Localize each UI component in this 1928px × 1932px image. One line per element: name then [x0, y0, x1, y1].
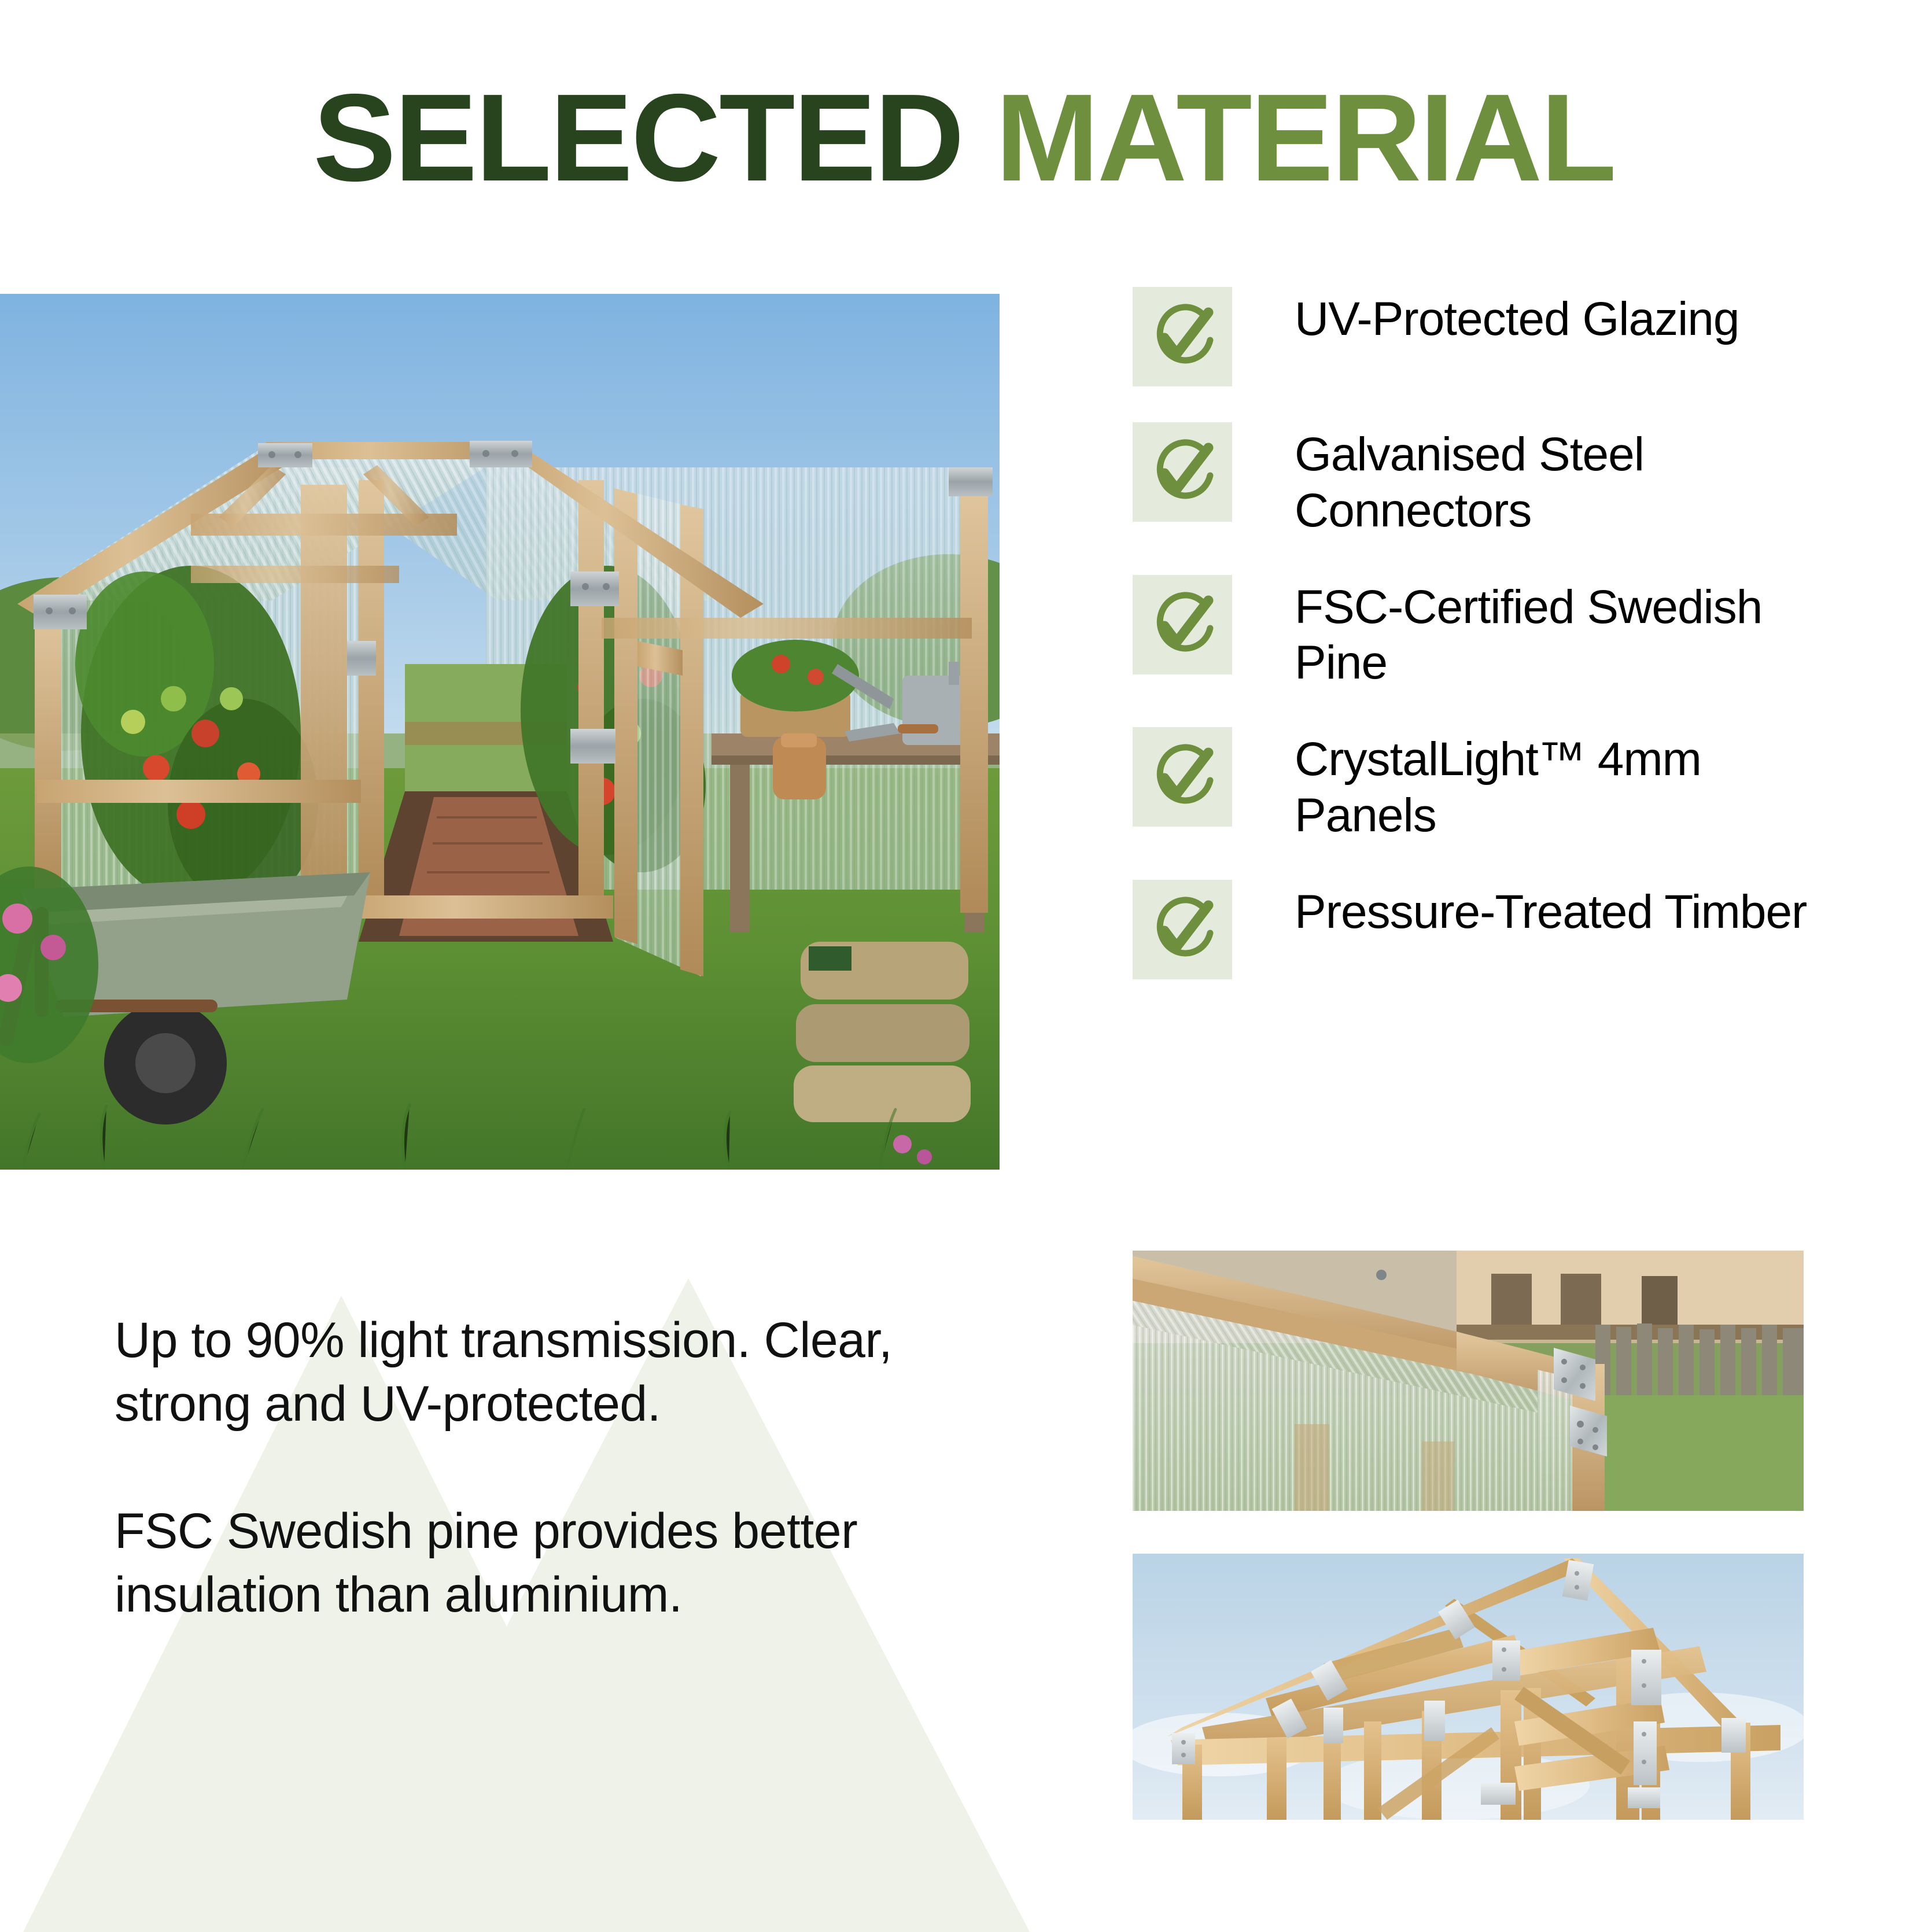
page-title-part-two: MATERIAL — [996, 68, 1615, 207]
roof-edge-detail-photo — [1133, 1251, 1804, 1511]
check-circle-icon — [1133, 287, 1232, 386]
timber-frame-detail-photo — [1133, 1554, 1804, 1820]
feature-label: UV-Protected Glazing — [1295, 287, 1739, 348]
feature-item: UV-Protected Glazing — [1133, 287, 1827, 386]
check-circle-icon — [1133, 727, 1232, 827]
page-title-part-one: SELECTED — [313, 68, 963, 207]
feature-item: Galvanised Steel Connectors — [1133, 422, 1827, 539]
body-copy-block: Up to 90% light transmission. Clear, str… — [115, 1308, 1040, 1627]
feature-item: FSC-Certified Swedish Pine — [1133, 575, 1827, 692]
page-title: SELECTED MATERIAL — [0, 75, 1928, 200]
feature-item: CrystalLight™ 4mm Panels — [1133, 727, 1827, 844]
feature-item: Pressure-Treated Timber — [1133, 880, 1827, 979]
body-paragraph-light-transmission: Up to 90% light transmission. Clear, str… — [115, 1308, 1040, 1436]
material-feature-list: UV-Protected Glazing Galvanised Steel Co… — [1133, 287, 1827, 979]
check-circle-icon — [1133, 422, 1232, 522]
feature-label: Pressure-Treated Timber — [1295, 880, 1807, 941]
greenhouse-hero-photo — [0, 294, 1000, 1170]
feature-label: FSC-Certified Swedish Pine — [1295, 575, 1827, 692]
check-circle-icon — [1133, 575, 1232, 674]
body-paragraph-insulation: FSC Swedish pine provides better insulat… — [115, 1499, 1040, 1627]
feature-label: Galvanised Steel Connectors — [1295, 422, 1827, 539]
feature-label: CrystalLight™ 4mm Panels — [1295, 727, 1827, 844]
check-circle-icon — [1133, 880, 1232, 979]
